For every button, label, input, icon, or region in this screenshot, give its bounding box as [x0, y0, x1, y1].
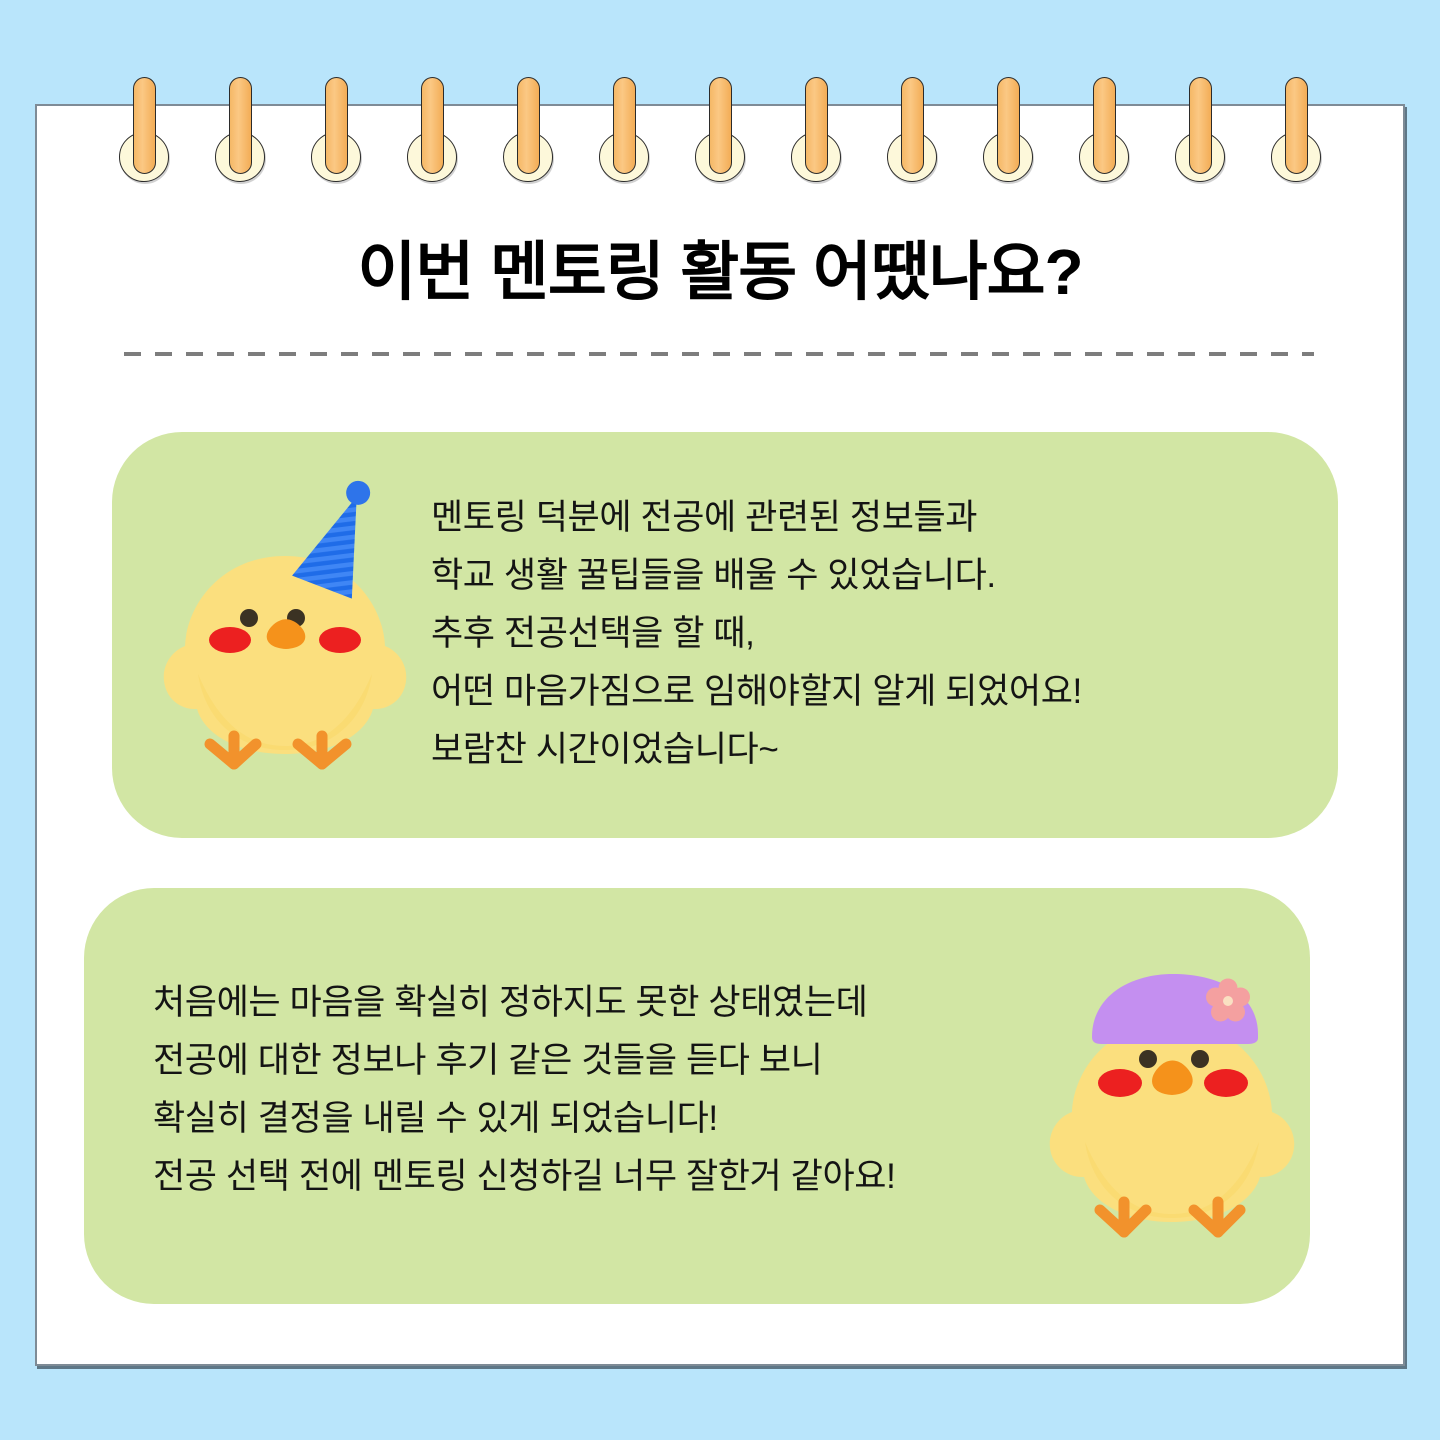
- chick-with-purple-beret-icon: [1032, 952, 1312, 1252]
- testimonial-text-2: 처음에는 마음을 확실히 정하지도 못한 상태였는데 전공에 대한 정보나 후기…: [153, 974, 895, 1206]
- page-title: 이번 멘토링 활동 어땠나요?: [35, 236, 1405, 310]
- chick-with-party-hat-icon: [150, 468, 420, 788]
- poster-canvas: 이번 멘토링 활동 어땠나요?: [0, 0, 1440, 1440]
- dashed-divider: [124, 352, 1314, 356]
- testimonial-text-1: 멘토링 덕분에 전공에 관련된 정보들과 학교 생활 꿀팁들을 배울 수 있었습…: [431, 489, 1082, 779]
